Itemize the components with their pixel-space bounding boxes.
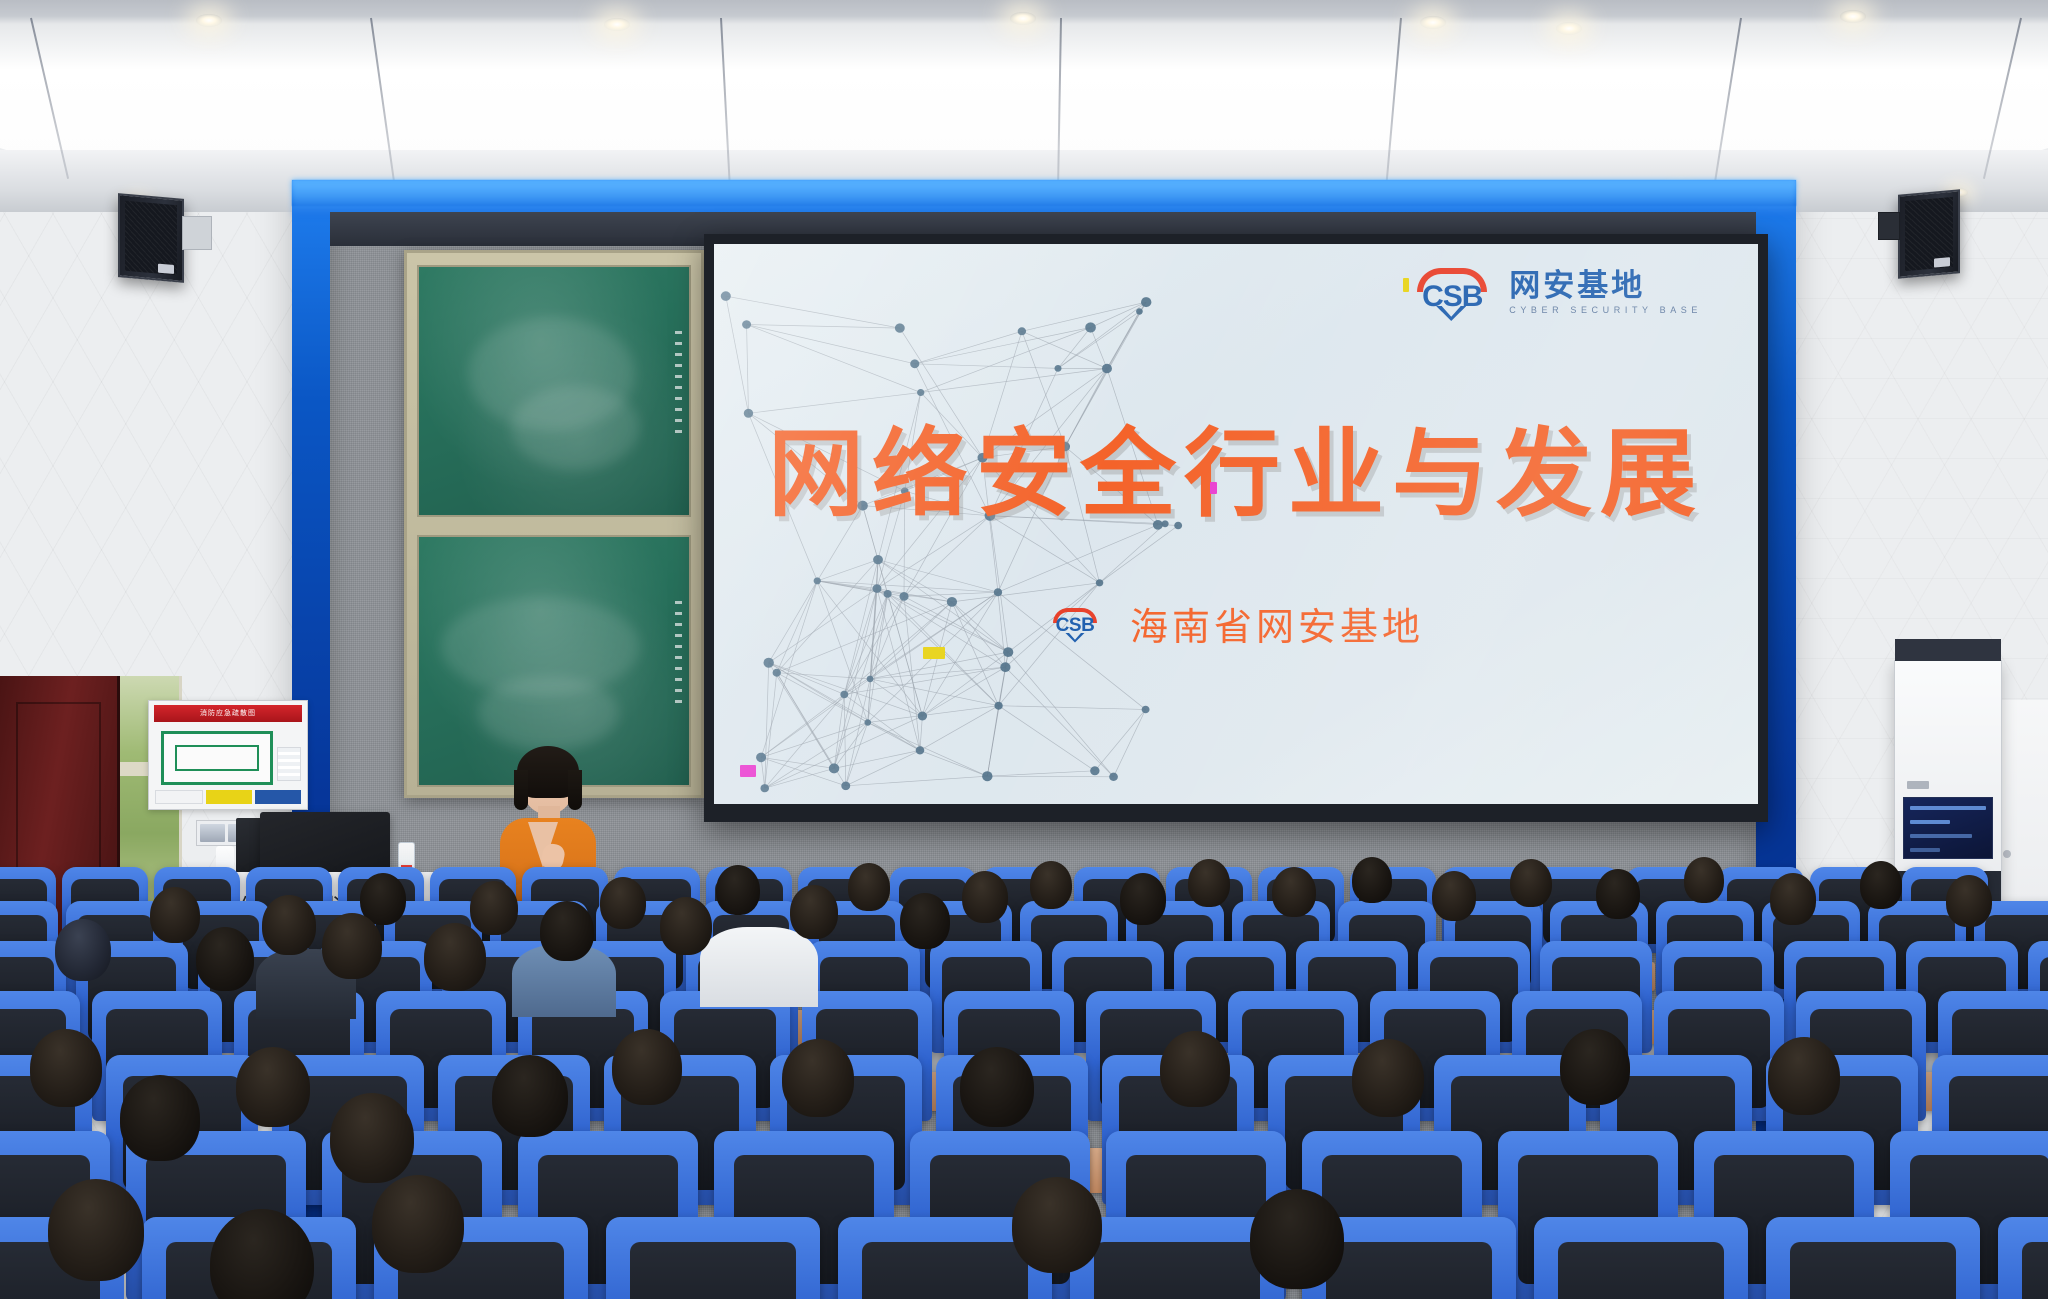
screen-artifact-yellow-2 [923, 647, 945, 659]
projection-screen-bezel: CSB 网安基地 CYBER SECURITY BASE 网络安全行业与发展 C… [704, 234, 1768, 822]
audience-head [1560, 1029, 1630, 1105]
audience-head [1250, 1189, 1344, 1289]
audience-head [1946, 875, 1992, 927]
poster-header: 消防应急疏散图 [154, 705, 302, 722]
audience-head [1352, 857, 1392, 903]
audience-head [262, 895, 316, 955]
slide-title: 网络安全行业与发展 [714, 396, 1758, 535]
seat-back [1790, 1242, 1957, 1299]
csb-logo-mark: CSB [1409, 266, 1495, 318]
poster-header-text: 消防应急疏散图 [154, 705, 302, 722]
wall-speaker-left [118, 193, 184, 283]
kiosk-top-cap [1895, 639, 2001, 661]
ceiling-downlight [1010, 12, 1036, 25]
speaker-badge-right [1934, 257, 1950, 267]
audience-head [30, 1029, 102, 1107]
audience-head [236, 1047, 310, 1127]
chalkboard-track-lower [675, 601, 682, 710]
poster-floorplan [161, 731, 273, 785]
slide-logo-name-en: CYBER SECURITY BASE [1509, 305, 1702, 315]
screen-artifact-pink-1 [1210, 482, 1217, 494]
kiosk-brand-mark [1907, 781, 1929, 789]
speaker-mount-right [1878, 212, 1900, 240]
audience-head [1120, 873, 1166, 925]
wall-speaker-right [1898, 189, 1960, 278]
audience-torso [700, 927, 818, 1007]
screen-artifact-yellow-1 [1403, 278, 1409, 292]
seat-back [1558, 1242, 1725, 1299]
seat [1998, 1217, 2048, 1299]
audience-head [120, 1075, 200, 1161]
audience-head [55, 919, 111, 981]
csb-mark-text-small: CSB [1048, 615, 1102, 637]
audience-head [1160, 1031, 1230, 1107]
audience-head [716, 865, 760, 915]
audience-head [150, 887, 200, 943]
blue-led-glow [292, 180, 1796, 216]
audience-head [1012, 1177, 1102, 1273]
audience-head [372, 1175, 464, 1273]
chalkboard-frame [404, 250, 704, 798]
audience-head [1684, 857, 1724, 903]
audience-head [330, 1093, 414, 1183]
audience-head [492, 1055, 568, 1137]
audience-head [782, 1039, 854, 1117]
seat [606, 1217, 820, 1299]
projection-screen: CSB 网安基地 CYBER SECURITY BASE 网络安全行业与发展 C… [714, 244, 1758, 804]
seat-back [862, 1242, 1029, 1299]
ceiling-downlight [196, 14, 222, 27]
csb-logo-mark-small: CSB [1048, 607, 1102, 641]
audience-head [424, 923, 486, 991]
audience-head [1768, 1037, 1840, 1115]
audience-head [470, 881, 518, 935]
audience-head [540, 901, 594, 961]
slide-subtitle-row: CSB 海南省网安基地 [714, 596, 1758, 651]
ceiling-downlight [604, 18, 630, 31]
seat [1766, 1217, 1980, 1299]
audience-head [1596, 869, 1640, 919]
audience-head [1860, 861, 1902, 909]
lecture-hall-photo: CSB 网安基地 CYBER SECURITY BASE 网络安全行业与发展 C… [0, 0, 2048, 1299]
slide-logo-name-cn: 网安基地 [1509, 270, 1702, 301]
audience-head [322, 913, 382, 979]
audience-head [1510, 859, 1552, 907]
poster-legend [277, 747, 301, 781]
audience-head [790, 885, 838, 939]
audience-head [1188, 859, 1230, 907]
audience-head [1272, 867, 1316, 917]
audience-head [962, 871, 1008, 923]
slide-subtitle: 海南省网安基地 [1130, 596, 1424, 651]
audience-head [612, 1029, 682, 1105]
slide-logo: CSB 网安基地 CYBER SECURITY BASE [1409, 266, 1702, 318]
chalkboard-track-upper [675, 331, 682, 440]
screen-artifact-pink-2 [740, 765, 756, 777]
audience-head [196, 927, 254, 991]
seat-back [2022, 1242, 2048, 1299]
audience-head [1030, 861, 1072, 909]
audience-head [600, 877, 646, 929]
poster-footer-tags [155, 790, 301, 804]
seat-back [1326, 1242, 1493, 1299]
chalkboard-panel-upper [417, 265, 691, 517]
ceiling-downlight [1556, 22, 1582, 35]
audience-head [1352, 1039, 1424, 1117]
audience-head [960, 1047, 1034, 1127]
evacuation-plan-poster: 消防应急疏散图 [148, 700, 308, 810]
presenter-hair [517, 746, 579, 798]
audience-head [1432, 871, 1476, 921]
seat [1534, 1217, 1748, 1299]
door-knob-icon [2003, 850, 2011, 858]
ceiling-downlight [1840, 10, 1866, 23]
ceiling-downlight [1420, 16, 1446, 29]
seat-back [1094, 1242, 1261, 1299]
audience-head [660, 897, 712, 955]
audience-head [900, 893, 950, 949]
audience-head [1770, 873, 1816, 925]
audience-head [48, 1179, 144, 1281]
csb-mark-text: CSB [1409, 280, 1495, 314]
kiosk-display[interactable] [1903, 797, 1993, 859]
speaker-mount-left [182, 216, 212, 250]
audience-seating [0, 879, 2048, 1299]
speaker-badge-left [158, 264, 174, 274]
audience-head [848, 863, 890, 911]
seat-back [630, 1242, 797, 1299]
